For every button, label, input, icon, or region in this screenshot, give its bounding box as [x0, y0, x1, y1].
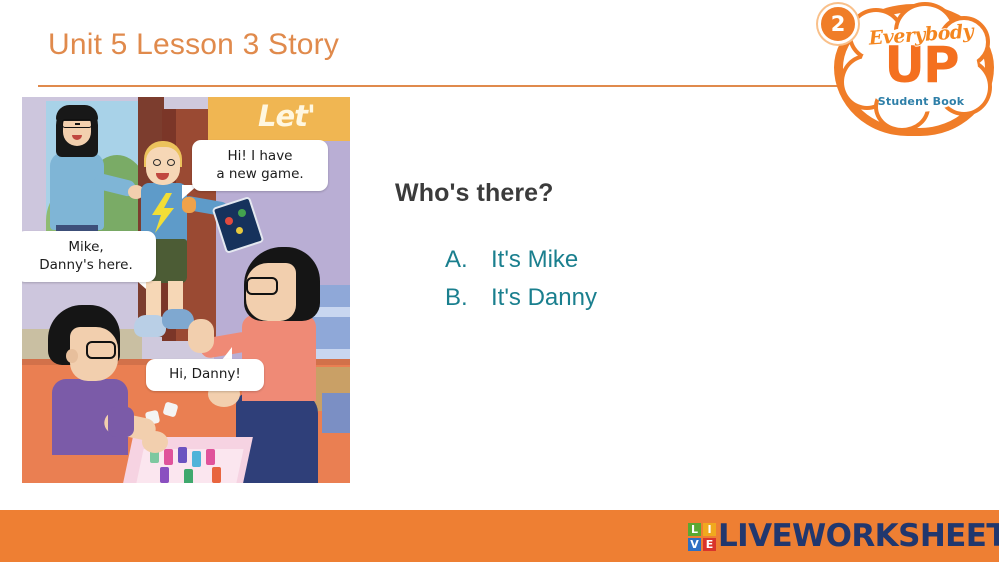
lw-tile-e: E: [702, 537, 717, 552]
speech-bubble-mike: Hi, Danny!: [146, 359, 264, 391]
everybody-up-logo: UP Everybody Student Book 2: [812, 0, 999, 145]
liveworksheets-tiles-icon: L I V E: [687, 522, 717, 552]
lw-tile-v: V: [687, 537, 702, 552]
comic-boy-left-glasses: [86, 341, 116, 359]
answer-option-a-text: It's Mike: [491, 246, 578, 274]
comic-danny-eye: [153, 159, 161, 166]
comic-mike-hand: [188, 319, 214, 353]
comic-lightning-bolt-icon: [150, 193, 180, 233]
comic-game-piece: [212, 467, 221, 483]
lw-tile-l: L: [687, 522, 702, 537]
answer-option-a-letter: A.: [445, 246, 491, 274]
question-prompt: Who's there?: [395, 179, 554, 208]
comic-tablet-icon: [238, 209, 246, 217]
speech-bubble-mom: Mike, Danny's here.: [22, 231, 156, 282]
speech-bubble-danny-greeting: Hi! I have a new game.: [192, 140, 328, 191]
comic-game-piece: [178, 447, 187, 463]
comic-boy-left-hand: [142, 431, 168, 453]
story-comic-image: Let': [22, 97, 350, 483]
comic-game-piece: [184, 469, 193, 483]
comic-banner-text: Let': [258, 99, 315, 133]
comic-corner: [322, 393, 350, 433]
comic-tablet-icon: [225, 217, 233, 225]
liveworksheets-wordmark: LIVEWORKSHEETS: [718, 521, 999, 552]
comic-boy-left-ear: [66, 349, 78, 363]
comic-game-piece: [164, 449, 173, 465]
lw-tile-i: I: [702, 522, 717, 537]
answer-option-b-text: It's Danny: [491, 284, 597, 312]
page-title: Unit 5 Lesson 3 Story: [48, 28, 339, 62]
comic-game-piece: [206, 449, 215, 465]
comic-mom-body: [50, 152, 104, 230]
comic-danny-eye: [167, 159, 175, 166]
comic-danny-sleeve: [182, 197, 196, 213]
logo-subtitle: Student Book: [856, 95, 986, 108]
logo-level-badge: 2: [818, 4, 858, 44]
title-divider: [38, 85, 870, 87]
comic-mike-glasses: [246, 277, 278, 295]
comic-mom-glasses-bridge: [75, 123, 80, 125]
comic-boy-left-sleeve: [108, 407, 134, 437]
answer-option-b[interactable]: B. It's Danny: [445, 284, 597, 312]
comic-tablet-icon: [236, 227, 243, 234]
answer-options-list: A. It's Mike B. It's Danny: [445, 246, 597, 322]
comic-game-piece: [192, 451, 201, 467]
answer-option-a[interactable]: A. It's Mike: [445, 246, 597, 274]
liveworksheets-logo[interactable]: L I V E LIVEWORKSHEETS: [687, 521, 999, 552]
answer-option-b-letter: B.: [445, 284, 491, 312]
comic-game-piece: [160, 467, 169, 483]
